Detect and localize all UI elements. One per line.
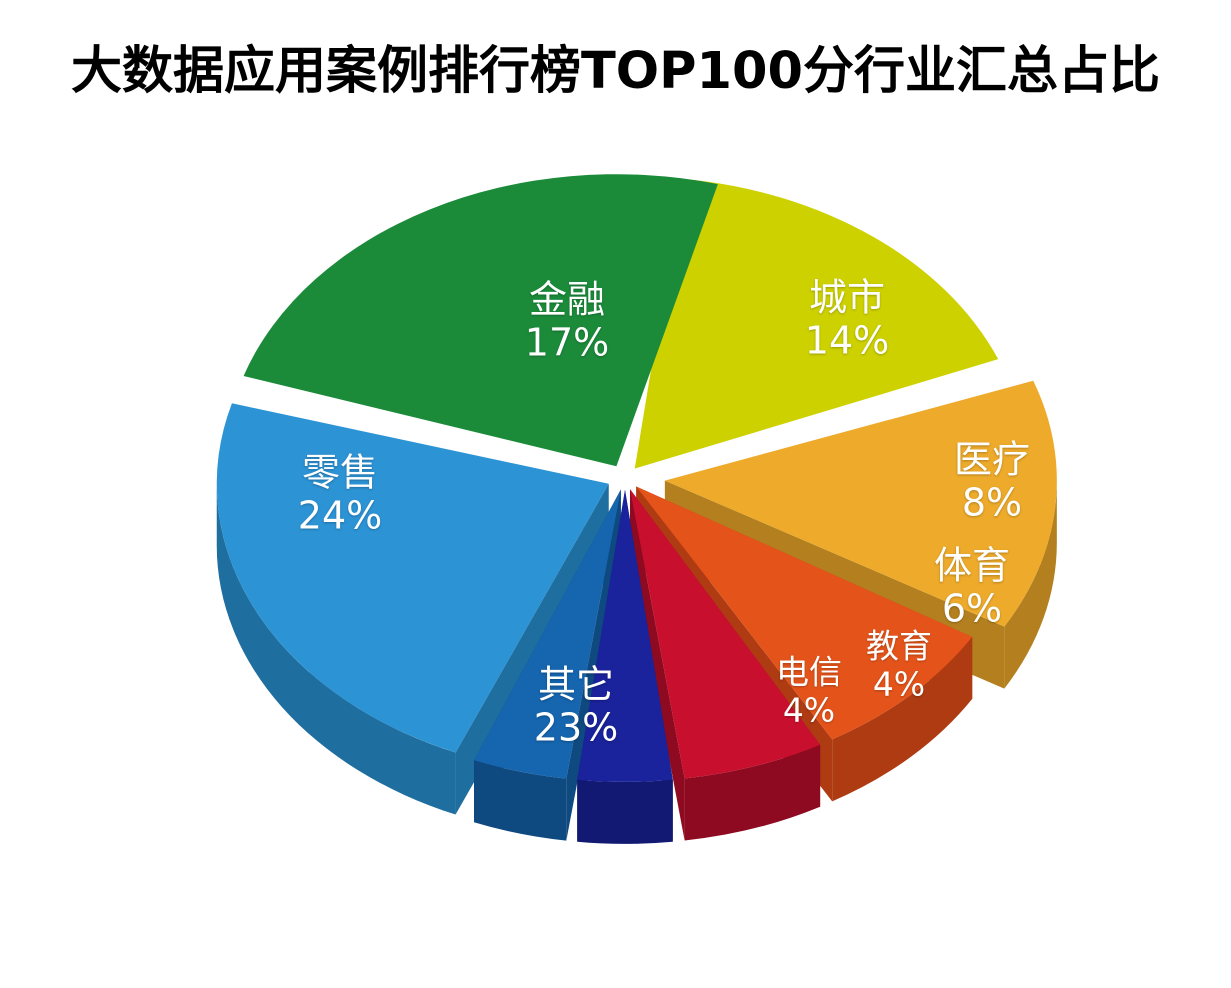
pie-slice-arc-wall-教育 — [577, 780, 673, 844]
pie-chart-svg — [0, 0, 1231, 988]
chart-container: 大数据应用案例排行榜TOP100分行业汇总占比 金融17%城市14%医疗8%体育… — [0, 0, 1231, 988]
